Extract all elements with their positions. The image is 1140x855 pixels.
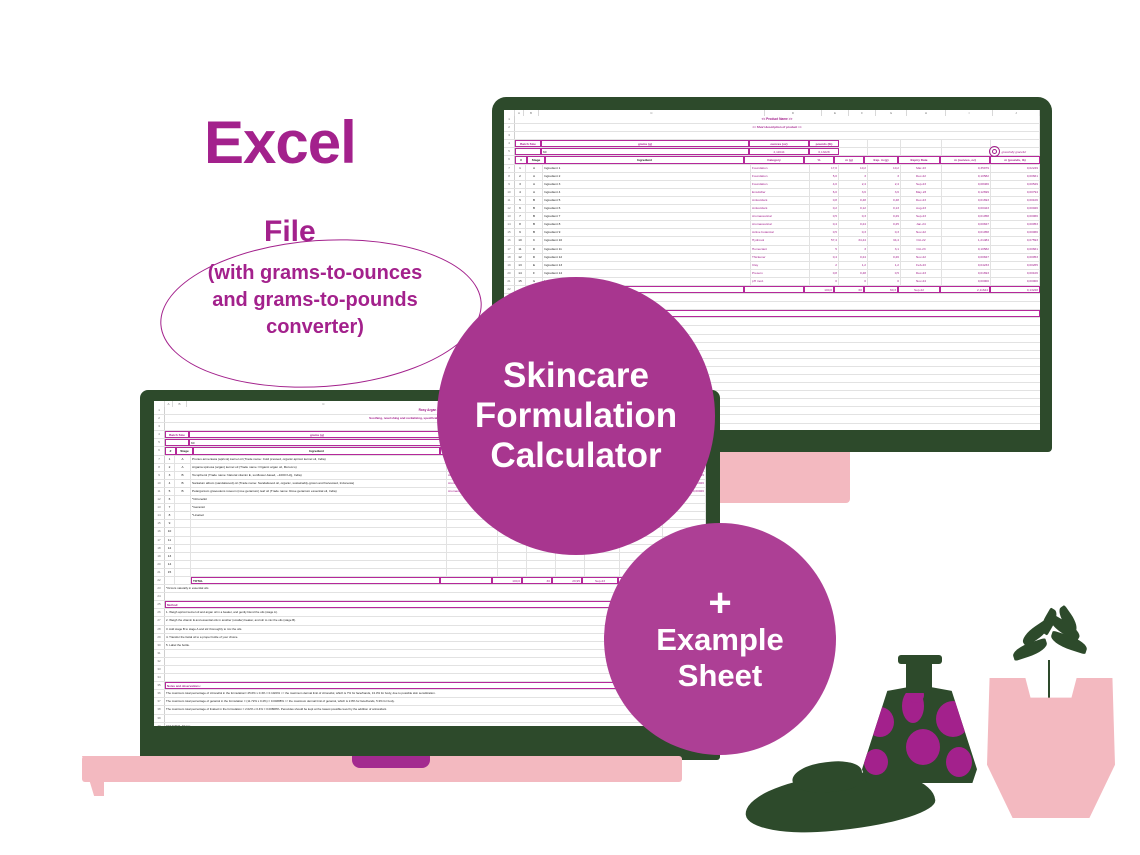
row-number[interactable]: 32 bbox=[154, 658, 165, 665]
cell-category[interactable]: Antioxidant bbox=[751, 205, 810, 212]
cell-stage[interactable]: D bbox=[526, 246, 543, 253]
empty-cell[interactable] bbox=[942, 148, 991, 155]
cell-stage[interactable] bbox=[175, 561, 191, 568]
cell-stage[interactable]: D bbox=[526, 254, 543, 261]
cell-ingredient[interactable]: *Linalool bbox=[191, 512, 447, 519]
row-number[interactable]: 18 bbox=[504, 254, 515, 261]
cell-mass-oz[interactable]: 0,00000 bbox=[942, 278, 991, 285]
cell-ingredient[interactable]: Ingredient 14 bbox=[543, 270, 751, 277]
cell-category[interactable]: Humectant bbox=[751, 246, 810, 253]
cell-percent[interactable]: 0,4 bbox=[810, 254, 839, 261]
empty-cell[interactable] bbox=[744, 286, 804, 293]
row-number[interactable]: 6 bbox=[504, 156, 515, 163]
row-number[interactable]: 35 bbox=[154, 682, 165, 689]
cell-mass-lb[interactable]: 0,00794 bbox=[991, 189, 1040, 196]
row-number[interactable]: 29 bbox=[154, 634, 165, 641]
cell-percent[interactable]: 0,5 bbox=[810, 213, 839, 220]
row-number[interactable]: 18 bbox=[154, 545, 165, 552]
cell-ingredient[interactable]: Ingredient 9 bbox=[543, 229, 751, 236]
cell-exp-mass[interactable]: 1,2 bbox=[868, 262, 901, 269]
cell-stage[interactable] bbox=[175, 528, 191, 535]
row-number[interactable]: 24 bbox=[154, 593, 165, 600]
batch-size-cell[interactable] bbox=[515, 148, 541, 155]
row-number[interactable]: 30 bbox=[154, 642, 165, 649]
cell-mass-lb[interactable]: 0,00026 bbox=[991, 205, 1040, 212]
cell-expiry-date[interactable]: Sep-23 bbox=[901, 213, 942, 220]
row-number[interactable]: 9 bbox=[154, 472, 165, 479]
cell-category[interactable] bbox=[447, 561, 498, 568]
cell-stage[interactable]: B bbox=[175, 480, 191, 487]
cell-percent[interactable] bbox=[498, 569, 527, 576]
row-number[interactable]: 15 bbox=[154, 520, 165, 527]
row-number[interactable]: 39 bbox=[154, 715, 165, 722]
empty-cell[interactable] bbox=[901, 148, 942, 155]
cell-number[interactable]: 1 bbox=[515, 165, 526, 172]
cell-stage[interactable]: A bbox=[526, 189, 543, 196]
cell-category[interactable]: Emulsifier bbox=[751, 189, 810, 196]
observation-date[interactable]: 01/12/2021, *3 pm: bbox=[165, 723, 706, 726]
cell-category[interactable] bbox=[447, 569, 498, 576]
batch-pounds-value[interactable]: 0,13228 bbox=[809, 148, 839, 155]
cell-category[interactable]: Preserv. bbox=[751, 270, 810, 277]
cell-expiry-date[interactable]: Dec-22 bbox=[901, 173, 942, 180]
col-number[interactable]: # bbox=[165, 447, 176, 454]
row-number[interactable]: 36 bbox=[154, 690, 165, 697]
cell-ingredient[interactable]: Tocopherol (Trade name: Natural vitamin … bbox=[191, 472, 447, 479]
cell-category[interactable]: Aromaceutical bbox=[751, 221, 810, 228]
cell-ingredient[interactable]: Ingredient 1 bbox=[543, 165, 751, 172]
cell-category[interactable]: Foundation bbox=[751, 181, 810, 188]
cell-ingredient[interactable] bbox=[191, 545, 447, 552]
row-number[interactable]: 27 bbox=[154, 617, 165, 624]
cell-ingredient[interactable]: Ingredient 4 bbox=[543, 189, 751, 196]
col-stage[interactable]: Stage bbox=[527, 156, 545, 163]
total-percent[interactable]: 100,0 bbox=[804, 286, 834, 293]
cell-ingredient[interactable]: Ingredient 8 bbox=[543, 221, 751, 228]
cell-stage[interactable]: B bbox=[175, 472, 191, 479]
cell-number[interactable]: 14 bbox=[165, 561, 175, 568]
cell-mass-g[interactable]: 2,4 bbox=[839, 181, 868, 188]
cell-number[interactable]: 4 bbox=[515, 189, 526, 196]
cell-expiry-date[interactable]: Dec-23 bbox=[901, 197, 942, 204]
cell-number[interactable]: 12 bbox=[165, 545, 175, 552]
cell-expiry-date[interactable]: Oct-22 bbox=[901, 237, 942, 244]
cell-expiry-date[interactable]: Oct-23 bbox=[901, 246, 942, 253]
cell-mass-lb[interactable]: 0,00106 bbox=[991, 197, 1040, 204]
row-number[interactable]: 9 bbox=[504, 181, 515, 188]
cell-number[interactable]: 4 bbox=[165, 480, 175, 487]
cell-number[interactable]: 8 bbox=[165, 512, 175, 519]
cell-mass-lb[interactable]: 0,00265 bbox=[991, 262, 1040, 269]
cell-ingredient[interactable]: Ingredient 3 bbox=[543, 181, 751, 188]
cell-mass-g[interactable] bbox=[527, 553, 556, 560]
cell-number[interactable]: 13 bbox=[165, 553, 175, 560]
product-title[interactable]: << Product Name >> bbox=[515, 116, 1040, 123]
cell-mass-g[interactable]: 1,2 bbox=[839, 262, 868, 269]
cell-percent[interactable]: 0,5 bbox=[810, 229, 839, 236]
cell-stage[interactable]: B bbox=[526, 197, 543, 204]
col-expiry-date[interactable]: Expiry Date bbox=[898, 156, 940, 163]
cell-mass-g[interactable]: 0 bbox=[839, 278, 868, 285]
cell-mass-lb[interactable]: 0,00053 bbox=[991, 221, 1040, 228]
empty-cell[interactable] bbox=[440, 577, 492, 584]
empty-cell[interactable] bbox=[515, 132, 1040, 139]
cell-ingredient[interactable]: *Citronellol bbox=[191, 496, 447, 503]
row-number[interactable]: 21 bbox=[154, 569, 165, 576]
cell-expiry-date[interactable]: May-23 bbox=[901, 189, 942, 196]
row-number[interactable]: 19 bbox=[504, 262, 515, 269]
cell-category[interactable]: pH mod. bbox=[751, 278, 810, 285]
cell-number[interactable]: 10 bbox=[515, 237, 526, 244]
cell-category[interactable] bbox=[447, 537, 498, 544]
ounces-header[interactable]: ounces (oz) bbox=[749, 140, 809, 147]
cell-mass-oz[interactable]: 0,01693 bbox=[942, 197, 991, 204]
row-number[interactable]: 31 bbox=[154, 650, 165, 657]
cell-ingredient[interactable]: Ingredient 10 bbox=[543, 237, 751, 244]
col-mass-lb[interactable]: m (pounds, lb) bbox=[990, 156, 1040, 163]
row-number[interactable]: 28 bbox=[154, 626, 165, 633]
cell-exp-mass[interactable]: 0,13 bbox=[868, 205, 901, 212]
cell-ingredient[interactable]: Prunus armeniaca (apricot) kernel oil (T… bbox=[191, 456, 447, 463]
row-number[interactable]: 13 bbox=[504, 213, 515, 220]
cell-stage[interactable]: A bbox=[175, 464, 191, 471]
cell-percent[interactable]: 0,8 bbox=[810, 270, 839, 277]
cell-mass-oz[interactable]: 0,00847 bbox=[942, 221, 991, 228]
cell-expiry-date[interactable]: Nov-22 bbox=[901, 254, 942, 261]
cell-stage[interactable]: B bbox=[175, 488, 191, 495]
pounds-header[interactable]: pounds (lb) bbox=[809, 140, 839, 147]
cell-percent[interactable]: 57,4 bbox=[810, 237, 839, 244]
cell-stage[interactable]: B bbox=[526, 229, 543, 236]
empty-cell[interactable] bbox=[868, 148, 901, 155]
col-ingredient[interactable]: Ingredient bbox=[193, 447, 440, 454]
cell-mass-lb[interactable]: 0,00000 bbox=[991, 278, 1040, 285]
row-number[interactable]: 20 bbox=[154, 561, 165, 568]
cell-exp-mass[interactable]: 3 bbox=[868, 173, 901, 180]
cell-stage[interactable] bbox=[175, 537, 191, 544]
cell-stage[interactable]: B bbox=[526, 213, 543, 220]
cell-number[interactable]: 1 bbox=[165, 456, 175, 463]
row-number[interactable]: 25 bbox=[154, 601, 165, 608]
cell-mass-g[interactable]: 0,24 bbox=[839, 254, 868, 261]
cell-mass-g[interactable]: 0,48 bbox=[839, 270, 868, 277]
cell-ingredient[interactable]: Pelargonium graveolens roseum (rose gera… bbox=[191, 488, 447, 495]
row-number[interactable]: 34 bbox=[154, 674, 165, 681]
cell-number[interactable]: 9 bbox=[165, 520, 175, 527]
note-text[interactable]: The maximum total percentage of linalool… bbox=[165, 706, 706, 713]
row-number[interactable]: 10 bbox=[154, 480, 165, 487]
cell-exp-mass[interactable]: 2,4 bbox=[868, 181, 901, 188]
cell-stage[interactable] bbox=[175, 545, 191, 552]
cell-mass-oz[interactable]: 1,21484 bbox=[942, 237, 991, 244]
row-number[interactable]: 16 bbox=[504, 237, 515, 244]
cell-number[interactable]: 8 bbox=[515, 221, 526, 228]
cell-stage[interactable] bbox=[175, 504, 191, 511]
batch-size-label[interactable]: Batch Size bbox=[165, 431, 189, 438]
batch-size-cell[interactable] bbox=[165, 439, 189, 446]
cell-category[interactable] bbox=[447, 545, 498, 552]
cell-ingredient[interactable] bbox=[191, 520, 447, 527]
empty-cell[interactable] bbox=[942, 140, 991, 147]
row-number[interactable]: 20 bbox=[504, 270, 515, 277]
row-number[interactable]: 7 bbox=[154, 456, 165, 463]
cell-stage[interactable] bbox=[175, 520, 191, 527]
cell-number[interactable]: 3 bbox=[515, 181, 526, 188]
cell-exp-mass[interactable]: 0,5 bbox=[868, 270, 901, 277]
row-number[interactable]: 12 bbox=[504, 205, 515, 212]
cell-expiry-date[interactable]: Nov-24 bbox=[901, 278, 942, 285]
cell-expiry-date[interactable]: Feb-23 bbox=[901, 262, 942, 269]
cell-exp-mass[interactable] bbox=[556, 569, 585, 576]
empty-cell[interactable] bbox=[165, 715, 706, 722]
empty-cell[interactable] bbox=[165, 577, 175, 584]
cell-ingredient[interactable] bbox=[191, 528, 447, 535]
cell-ingredient[interactable] bbox=[191, 537, 447, 544]
cell-number[interactable]: 2 bbox=[165, 464, 175, 471]
cell-mass-oz[interactable]: 0,00423 bbox=[942, 205, 991, 212]
cell-stage[interactable]: E bbox=[526, 262, 543, 269]
row-number[interactable]: 12 bbox=[154, 496, 165, 503]
total-mass-g[interactable]: 60 bbox=[834, 286, 864, 293]
cell-number[interactable]: 15 bbox=[165, 569, 175, 576]
row-number[interactable]: 1 bbox=[504, 116, 515, 123]
row-number[interactable]: 16 bbox=[154, 528, 165, 535]
empty-cell[interactable] bbox=[868, 140, 901, 147]
cell-stage[interactable]: A bbox=[526, 165, 543, 172]
cell-exp-mass[interactable]: 3,1 bbox=[868, 246, 901, 253]
row-number[interactable]: 8 bbox=[154, 464, 165, 471]
cell-mass-g[interactable]: 3 bbox=[839, 246, 868, 253]
batch-grams-value[interactable]: 60 bbox=[541, 148, 749, 155]
row-number[interactable]: 17 bbox=[504, 246, 515, 253]
col-stage[interactable]: Stage bbox=[176, 447, 193, 454]
cell-mass-g[interactable]: 0,24 bbox=[839, 221, 868, 228]
cell-mass-oz[interactable]: 0,00847 bbox=[942, 254, 991, 261]
cell-percent[interactable]: 0,4 bbox=[810, 221, 839, 228]
grams-header[interactable]: grams (g) bbox=[541, 140, 749, 147]
cell-category[interactable] bbox=[447, 553, 498, 560]
cell-stage[interactable]: A bbox=[526, 181, 543, 188]
col-mass-g[interactable]: m (g) bbox=[834, 156, 864, 163]
row-number[interactable]: 38 bbox=[154, 706, 165, 713]
cell-stage[interactable] bbox=[175, 512, 191, 519]
cell-percent[interactable]: 0,8 bbox=[810, 197, 839, 204]
cell-number[interactable]: 13 bbox=[515, 262, 526, 269]
row-number[interactable]: 11 bbox=[504, 197, 515, 204]
cell-number[interactable]: 2 bbox=[515, 173, 526, 180]
cell-ingredient[interactable] bbox=[191, 553, 447, 560]
cell-number[interactable]: 10 bbox=[165, 528, 175, 535]
total-expiry-date[interactable]: Sep-23 bbox=[582, 577, 618, 584]
col-mass-oz[interactable]: m (ounces, oz) bbox=[940, 156, 990, 163]
cell-mass-oz[interactable]: 0,12699 bbox=[942, 189, 991, 196]
cell-number[interactable]: 11 bbox=[515, 246, 526, 253]
row-number[interactable]: 2 bbox=[154, 415, 165, 422]
cell-category[interactable]: Hydrosol bbox=[751, 237, 810, 244]
cell-mass-oz[interactable]: 0,10582 bbox=[942, 173, 991, 180]
cell-mass-lb[interactable]: 0,00106 bbox=[991, 270, 1040, 277]
row-number[interactable]: 5 bbox=[504, 148, 515, 155]
batch-ounces-value[interactable]: 2,11644 bbox=[749, 148, 809, 155]
row-number[interactable]: 19 bbox=[154, 553, 165, 560]
cell-percent[interactable] bbox=[498, 545, 527, 552]
row-number[interactable]: 13 bbox=[154, 504, 165, 511]
cell-ingredient[interactable]: Ingredient 5 bbox=[543, 197, 751, 204]
row-number[interactable]: 22 bbox=[154, 577, 165, 584]
row-number[interactable]: 37 bbox=[154, 698, 165, 705]
cell-percent[interactable]: 6,0 bbox=[810, 189, 839, 196]
cell-category[interactable]: Active botanical bbox=[751, 229, 810, 236]
empty-cell[interactable] bbox=[175, 577, 191, 584]
cell-number[interactable]: 15 bbox=[515, 278, 526, 285]
row-number[interactable]: 10 bbox=[504, 189, 515, 196]
cell-number[interactable]: 7 bbox=[165, 504, 175, 511]
cell-category[interactable]: Thickener bbox=[751, 254, 810, 261]
cell-mass-lb[interactable]: 0,07593 bbox=[991, 237, 1040, 244]
cell-percent[interactable]: 4,0 bbox=[810, 181, 839, 188]
cell-expiry-date[interactable]: Sep-23 bbox=[901, 181, 942, 188]
cell-percent[interactable]: 2 bbox=[810, 262, 839, 269]
col-number[interactable]: # bbox=[515, 156, 527, 163]
row-number[interactable]: 40 bbox=[154, 723, 165, 726]
cell-mass-oz[interactable]: 0,01058 bbox=[942, 213, 991, 220]
cell-mass-lb[interactable]: 0,00066 bbox=[991, 229, 1040, 236]
cell-stage[interactable]: B bbox=[526, 221, 543, 228]
cell-stage[interactable]: B bbox=[526, 205, 543, 212]
cell-stage[interactable]: F bbox=[526, 270, 543, 277]
cell-mass-lb[interactable]: 0,00529 bbox=[991, 181, 1040, 188]
cell-exp-mass[interactable]: 0,25 bbox=[868, 221, 901, 228]
cell-ingredient[interactable]: Ingredient 2 bbox=[543, 173, 751, 180]
row-number[interactable]: 6 bbox=[154, 447, 165, 454]
cell-expiry-date[interactable]: Aug-23 bbox=[901, 205, 942, 212]
cell-stage[interactable]: A bbox=[175, 456, 191, 463]
cell-mass-oz[interactable]: 0,10582 bbox=[942, 246, 991, 253]
empty-cell[interactable] bbox=[901, 140, 942, 147]
col-exp-mass[interactable]: Exp. m (g) bbox=[864, 156, 898, 163]
cell-mass-g[interactable]: 0,3 bbox=[839, 229, 868, 236]
row-number[interactable]: 2 bbox=[504, 124, 515, 131]
row-number[interactable]: 14 bbox=[154, 512, 165, 519]
cell-percent[interactable]: 0,2 bbox=[810, 205, 839, 212]
col-ingredient[interactable]: Ingredient bbox=[545, 156, 744, 163]
row-number[interactable]: 8 bbox=[504, 173, 515, 180]
total-expiry-date[interactable]: Sep-22 bbox=[898, 286, 940, 293]
cell-mass-g[interactable]: 0,48 bbox=[839, 197, 868, 204]
cell-mass-g[interactable] bbox=[527, 569, 556, 576]
cell-ingredient[interactable]: Santalum album (sandalwood) oil (Trade n… bbox=[191, 480, 447, 487]
cell-number[interactable]: 3 bbox=[165, 472, 175, 479]
empty-cell[interactable] bbox=[839, 148, 868, 155]
cell-mass-oz[interactable]: 0,08466 bbox=[942, 181, 991, 188]
cell-expiry-date[interactable]: Jan-24 bbox=[901, 221, 942, 228]
cell-percent[interactable]: 0 bbox=[810, 278, 839, 285]
total-exp-mass[interactable]: 29,95 bbox=[552, 577, 582, 584]
cell-ingredient[interactable]: Ingredient 6 bbox=[543, 205, 751, 212]
batch-grams-value[interactable]: 60 bbox=[189, 439, 445, 446]
cell-mass-lb[interactable]: 0,00066 bbox=[991, 213, 1040, 220]
cell-number[interactable]: 14 bbox=[515, 270, 526, 277]
batch-size-label[interactable]: Batch Size bbox=[515, 140, 541, 147]
cell-mass-oz[interactable]: 0,04233 bbox=[942, 262, 991, 269]
cell-category[interactable]: Foundation bbox=[751, 173, 810, 180]
total-mass-oz[interactable]: 2,11644 bbox=[940, 286, 990, 293]
row-number[interactable]: 3 bbox=[154, 423, 165, 430]
row-number[interactable]: 21 bbox=[504, 278, 515, 285]
row-number[interactable]: 23 bbox=[154, 585, 165, 592]
cell-ingredient[interactable] bbox=[191, 569, 447, 576]
cell-ingredient[interactable]: Ingredient 7 bbox=[543, 213, 751, 220]
row-number[interactable]: 3 bbox=[504, 132, 515, 139]
cell-exp-mass[interactable]: 0,29 bbox=[868, 213, 901, 220]
cell-expiry-date[interactable]: Nov-22 bbox=[901, 229, 942, 236]
cell-percent[interactable]: 5,0 bbox=[810, 173, 839, 180]
cell-exp-mass[interactable]: 10,2 bbox=[868, 165, 901, 172]
cell-expiry-date[interactable]: Dec-23 bbox=[901, 270, 942, 277]
row-number[interactable]: 4 bbox=[154, 431, 165, 438]
cell-mass-g[interactable] bbox=[527, 561, 556, 568]
total-mass-g[interactable]: 30 bbox=[522, 577, 552, 584]
cell-category[interactable]: Antioxidant bbox=[751, 197, 810, 204]
cell-mass-g[interactable]: 0,12 bbox=[839, 205, 868, 212]
cell-expiry-date[interactable] bbox=[585, 561, 620, 568]
cell-number[interactable]: 5 bbox=[515, 197, 526, 204]
col-category[interactable]: Category bbox=[744, 156, 804, 163]
cell-percent[interactable] bbox=[498, 561, 527, 568]
cell-stage[interactable]: A bbox=[526, 173, 543, 180]
cell-category[interactable]: Aromaceutical bbox=[751, 213, 810, 220]
row-number[interactable]: 4 bbox=[504, 140, 515, 147]
cell-stage[interactable]: C bbox=[526, 237, 543, 244]
cell-category[interactable]: Foundation bbox=[751, 165, 810, 172]
total-percent[interactable]: 100,0 bbox=[492, 577, 522, 584]
cell-exp-mass[interactable]: 3,6 bbox=[868, 189, 901, 196]
row-number[interactable]: 7 bbox=[504, 165, 515, 172]
cell-mass-g[interactable]: 10,2 bbox=[839, 165, 868, 172]
cell-mass-oz[interactable]: 0,01058 bbox=[942, 229, 991, 236]
row-number[interactable]: 14 bbox=[504, 221, 515, 228]
cell-category[interactable]: Clay bbox=[751, 262, 810, 269]
total-label[interactable]: TOTAL bbox=[191, 577, 440, 584]
cell-number[interactable]: 6 bbox=[515, 205, 526, 212]
cell-mass-lb[interactable]: 0,00661 bbox=[991, 246, 1040, 253]
cell-exp-mass[interactable]: 34,4 bbox=[868, 237, 901, 244]
cell-percent[interactable]: 5 bbox=[810, 246, 839, 253]
cell-mass-g[interactable]: 3 bbox=[839, 173, 868, 180]
cell-exp-mass[interactable] bbox=[556, 561, 585, 568]
cell-number[interactable]: 6 bbox=[165, 496, 175, 503]
cell-expiry-date[interactable]: Mar-23 bbox=[901, 165, 942, 172]
cell-ingredient[interactable]: Ingredient 11 bbox=[543, 246, 751, 253]
cell-number[interactable]: 11 bbox=[165, 537, 175, 544]
cell-ingredient[interactable]: *Geraniol bbox=[191, 504, 447, 511]
row-number[interactable]: 1 bbox=[154, 407, 165, 414]
cell-exp-mass[interactable]: 0,26 bbox=[868, 254, 901, 261]
cell-number[interactable]: 5 bbox=[165, 488, 175, 495]
cell-mass-oz[interactable]: 0,35979 bbox=[942, 165, 991, 172]
grams-header[interactable]: grams (g) bbox=[189, 431, 445, 438]
cell-mass-lb[interactable]: 0,00661 bbox=[991, 173, 1040, 180]
row-number[interactable]: 17 bbox=[154, 537, 165, 544]
total-mass-lb[interactable]: 0,13228 bbox=[990, 286, 1040, 293]
row-number[interactable]: 11 bbox=[154, 488, 165, 495]
row-number[interactable]: 26 bbox=[154, 609, 165, 616]
empty-cell[interactable] bbox=[839, 140, 868, 147]
cell-stage[interactable] bbox=[175, 569, 191, 576]
cell-ingredient[interactable]: Argania spinosa (argan) kernel oil (Trad… bbox=[191, 464, 447, 471]
cell-mass-g[interactable]: 34,44 bbox=[839, 237, 868, 244]
col-percent[interactable]: % bbox=[804, 156, 834, 163]
